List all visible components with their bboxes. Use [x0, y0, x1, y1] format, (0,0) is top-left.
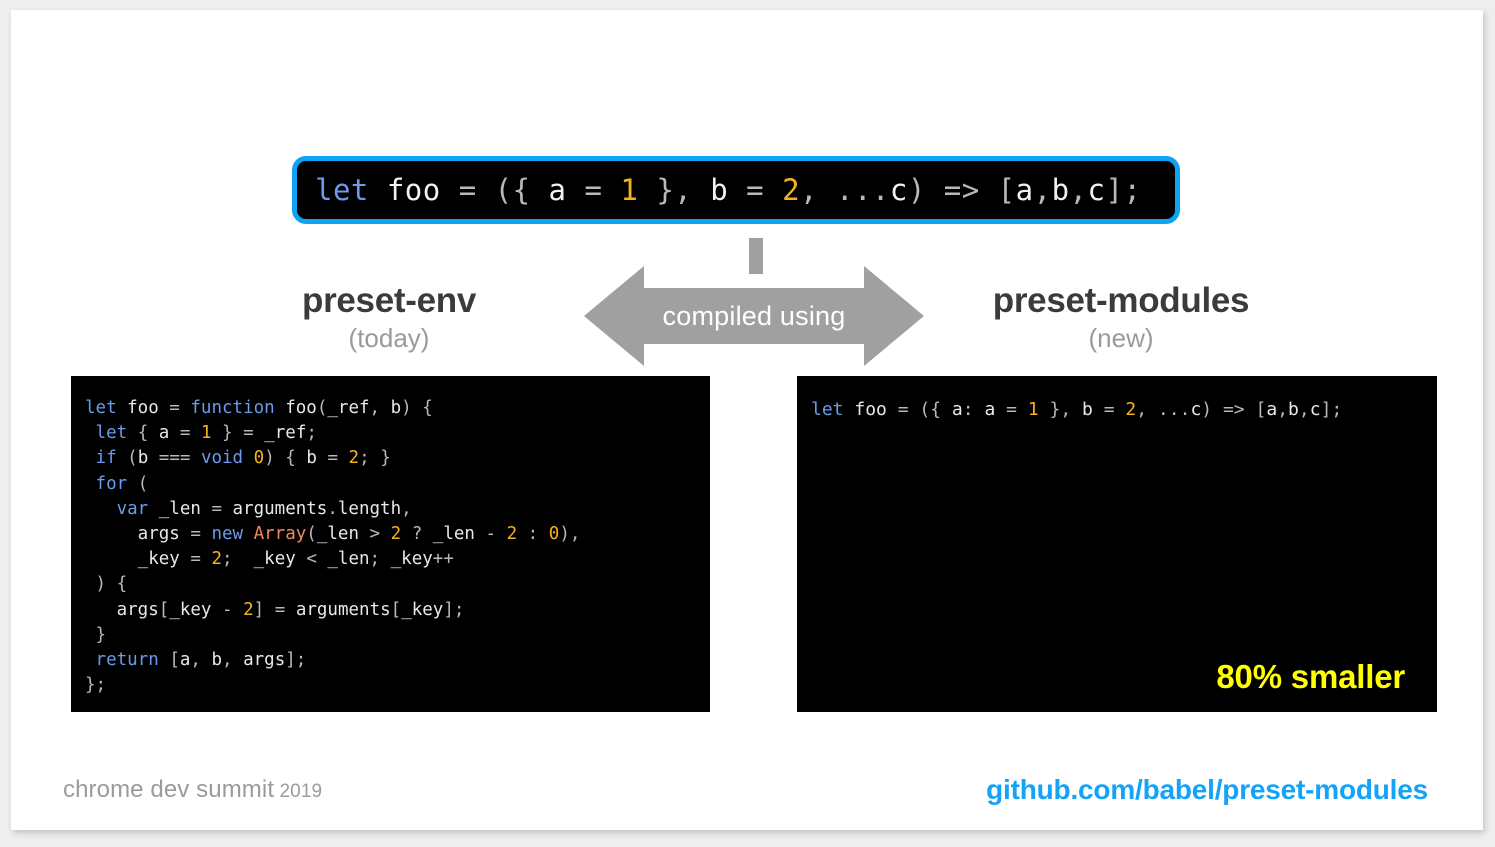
footer-event-year: 2019: [274, 781, 322, 802]
code-panel-preset-modules: let foo = ({ a: a = 1 }, b = 2, ...c) =>…: [797, 376, 1437, 712]
column-heading-right: preset-modules (new): [911, 282, 1331, 354]
column-subtitle-preset-modules: (new): [911, 322, 1331, 355]
size-reduction-badge: 80% smaller: [1216, 658, 1405, 696]
source-code-text: let foo = ({ a = 1 }, b = 2, ...c) => [a…: [315, 173, 1141, 207]
footer-event-name: chrome dev summit: [63, 776, 274, 803]
compiled-using-arrow: compiled using: [584, 266, 924, 366]
footer-branding: chrome dev summit 2019: [63, 776, 322, 804]
column-heading-left: preset-env (today): [179, 282, 599, 354]
source-code-box: let foo = ({ a = 1 }, b = 2, ...c) => [a…: [292, 156, 1180, 224]
slide-canvas: let foo = ({ a = 1 }, b = 2, ...c) => [a…: [11, 10, 1483, 830]
footer-repo-link[interactable]: github.com/babel/preset-modules: [986, 774, 1428, 806]
code-panel-preset-env: let foo = function foo(_ref, b) { let { …: [71, 376, 710, 712]
arrow-label: compiled using: [584, 266, 924, 366]
column-subtitle-preset-env: (today): [179, 322, 599, 355]
code-block-preset-modules: let foo = ({ a: a = 1 }, b = 2, ...c) =>…: [797, 376, 1437, 422]
code-block-preset-env: let foo = function foo(_ref, b) { let { …: [71, 376, 710, 698]
column-title-preset-modules: preset-modules: [911, 282, 1331, 320]
column-title-preset-env: preset-env: [179, 282, 599, 320]
